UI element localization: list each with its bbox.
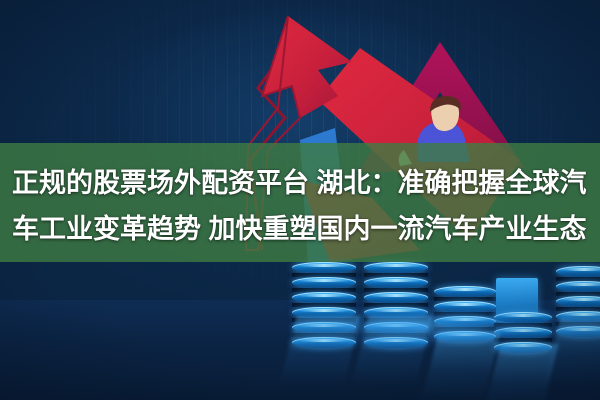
caption-text-container: 正规的股票场外配资平台 湖北：准确把握全球汽 车工业变革趋势 加快重塑国内一流汽… (0, 143, 600, 262)
banner-image: 正规的股票场外配资平台 湖北：准确把握全球汽 车工业变革趋势 加快重塑国内一流汽… (0, 0, 600, 400)
caption-line-2: 车工业变革趋势 加快重塑国内一流汽车产业生态 (12, 206, 590, 252)
caption-line-1: 正规的股票场外配资平台 湖北：准确把握全球汽 (12, 160, 590, 206)
